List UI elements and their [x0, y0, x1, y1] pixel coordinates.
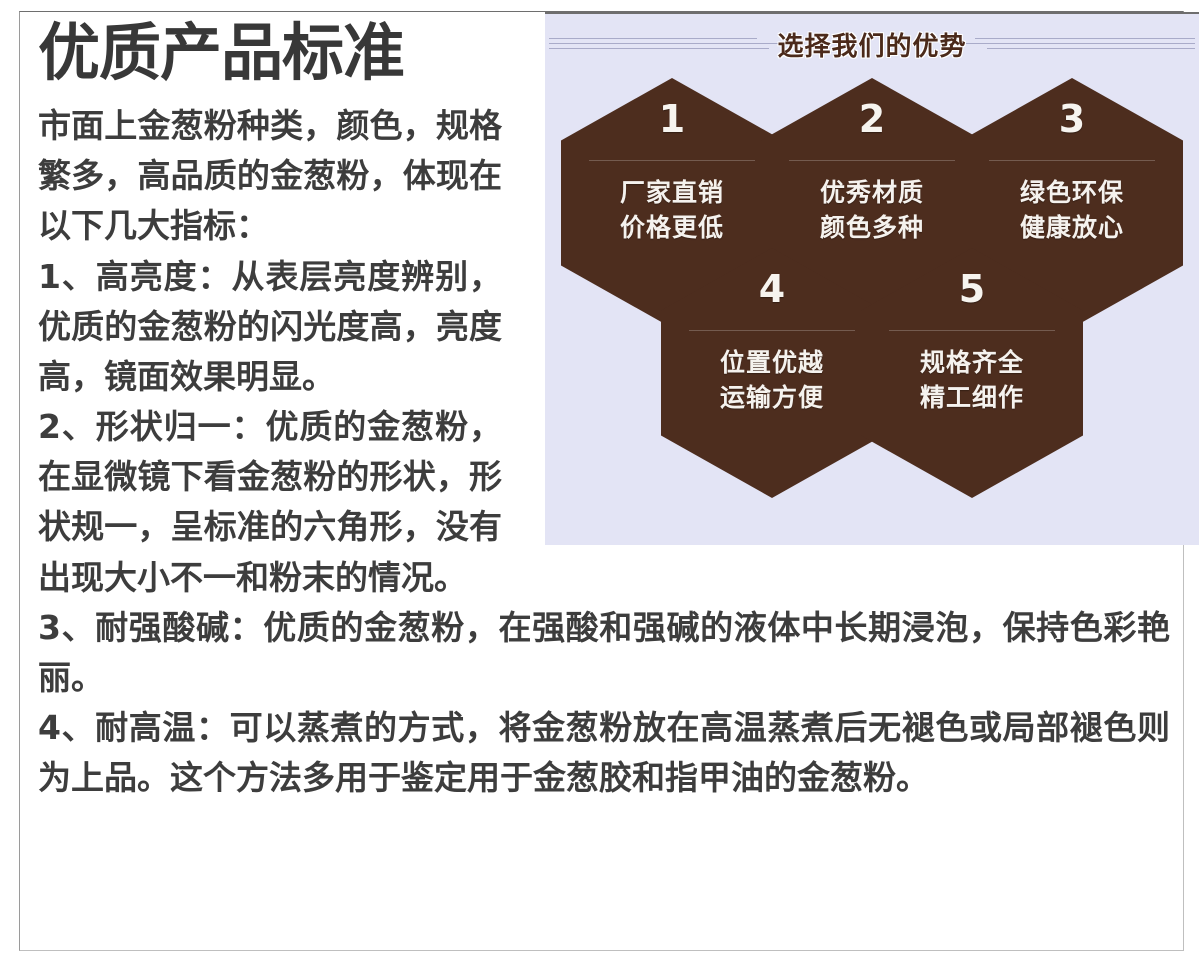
product-standard-infographic: 选择我们的优势 1 厂家直销 价格更低 2 优秀材质: [0, 0, 1200, 970]
paragraph-item-4: 4、耐高温：可以蒸煮的方式，将金葱粉放在高温蒸煮后无褪色或局部褪色则为上品。这个…: [38, 703, 1170, 803]
paragraph-item-3: 3、耐强酸碱：优质的金葱粉，在强酸和强碱的液体中长期浸泡，保持色彩艳丽。: [38, 603, 1170, 703]
advantages-title: 选择我们的优势: [761, 26, 982, 63]
panel-text-wrap-spacer: [502, 12, 1170, 557]
article-text-body: 优质产品标准 市面上金葱粉种类，颜色，规格繁多，高品质的金葱粉，体现在以下几大指…: [20, 12, 1184, 950]
